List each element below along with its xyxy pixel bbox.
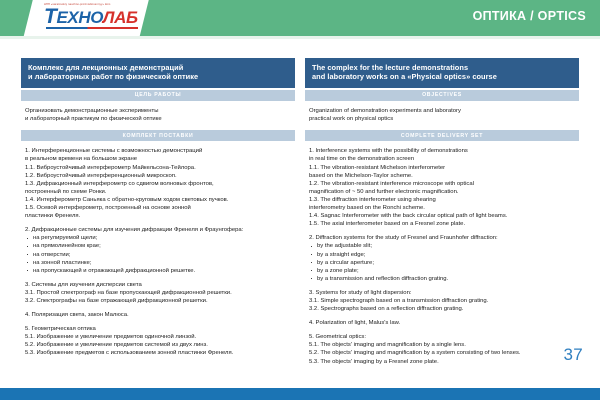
- list-item: 5.1. The objects' imaging and magnificat…: [309, 341, 575, 349]
- list-item: на прямолинейном крае;: [25, 242, 291, 250]
- list-item: 1.1. The vibration-resistant Michelson i…: [309, 164, 575, 172]
- left-objectives-line2: и лабораторный практикум по физической о…: [25, 115, 291, 123]
- list-item: interferometry based on the Ronchi schem…: [309, 204, 575, 212]
- list-item: 5. Геометрическая оптика: [25, 325, 291, 333]
- right-objectives-line1: Organization of demonstration experiment…: [309, 107, 575, 115]
- left-delivery-list: 1. Интерференционные системы с возможнос…: [21, 141, 295, 357]
- right-section-objectives-header: OBJECTIVES: [305, 90, 579, 101]
- list-item: 1. Interference systems with the possibi…: [309, 147, 575, 155]
- list-item: на отверстии;: [25, 251, 291, 259]
- left-objectives-line1: Организовать демонстрационные эксперимен…: [25, 107, 291, 115]
- logo-underline-rule: [46, 27, 138, 29]
- left-title-line2: и лабораторных работ по физической оптик…: [28, 72, 288, 81]
- list-item: 5.3. Изображение предметов с использован…: [25, 349, 291, 357]
- left-title-line1: Комплекс для лекционных демонстраций: [28, 63, 288, 72]
- page-title: ОПТИКА / OPTICS: [473, 9, 586, 23]
- list-item: 1.3. Дифракционный интерферометр со сдви…: [25, 180, 291, 188]
- list-item: 1.2. The vibration-resistant interferenc…: [309, 180, 575, 188]
- right-objectives-line2: practical work on physical optics: [309, 115, 575, 123]
- header-divider: [0, 36, 600, 39]
- list-item: 1.3. The diffraction interferometer usin…: [309, 196, 575, 204]
- list-item: 1.2. Виброустойчивый интерференционный м…: [25, 172, 291, 180]
- left-section-delivery-header: КОМПЛЕКТ ПОСТАВКИ: [21, 130, 295, 141]
- list-item: by a transmission and reflection diffrac…: [309, 275, 575, 283]
- logo-letter-t: Т: [44, 5, 56, 28]
- list-item: based on the Michelson-Taylor scheme.: [309, 172, 575, 180]
- list-item: 1.5. The axial interferometer based on a…: [309, 220, 575, 228]
- list-item: 4. Polarization of light, Malus's law.: [309, 319, 575, 327]
- list-item: 2. Diffraction systems for the study of …: [309, 234, 575, 242]
- list-item: 1.4. Интерферометр Саньяка с обратно-кру…: [25, 196, 291, 204]
- column-english: The complex for the lecture demonstratio…: [305, 58, 579, 366]
- list-item: 5. Geometrical optics:: [309, 333, 575, 341]
- list-item: 1.1. Виброустойчивый интерферометр Майке…: [25, 164, 291, 172]
- list-item: by the adjustable slit;: [309, 242, 575, 250]
- list-item: на регулируемой щели;: [25, 234, 291, 242]
- logo-wordmark: ТЕХНОЛАБ: [44, 7, 138, 28]
- right-section-delivery-header: COMPLETE DELIVERY SET: [305, 130, 579, 141]
- left-section-objectives-header: ЦЕЛЬ РАБОТЫ: [21, 90, 295, 101]
- list-item: в реальном времени на большом экране: [25, 155, 291, 163]
- list-item: 3.2. Спектрографы на базе отражающей диф…: [25, 297, 291, 305]
- list-item: 2. Дифракционные системы для изучения ди…: [25, 226, 291, 234]
- list-item: 3. Системы для изучения дисперсии света: [25, 281, 291, 289]
- right-title-line1: The complex for the lecture demonstratio…: [312, 63, 572, 72]
- column-russian: Комплекс для лекционных демонстраций и л…: [21, 58, 295, 366]
- list-item: 3.2. Spectrographs based on a reflection…: [309, 305, 575, 313]
- technolab-logo: НПП «saratovskiy nauchno-proizvodstvenny…: [44, 2, 140, 34]
- page-header: НПП «saratovskiy nauchno-proizvodstvenny…: [0, 0, 600, 36]
- list-item: 3.1. Simple spectrograph based on a tran…: [309, 297, 575, 305]
- content-columns: Комплекс для лекционных демонстраций и л…: [21, 58, 579, 366]
- list-item: 5.2. Изображение и увеличение предметов …: [25, 341, 291, 349]
- logo-text-lab: ЛАБ: [103, 8, 138, 27]
- list-item: на пропускающей и отражающей дифракционн…: [25, 267, 291, 275]
- list-item: in real time on the demonstration screen: [309, 155, 575, 163]
- list-item: 1.5. Осевой интерферометр, построенный н…: [25, 204, 291, 212]
- list-item: на зонной пластинке;: [25, 259, 291, 267]
- list-item: 5.3. The objects' imaging by a Fresnel z…: [309, 358, 575, 366]
- right-delivery-list: 1. Interference systems with the possibi…: [305, 141, 579, 365]
- right-objectives-body: Organization of demonstration experiment…: [305, 101, 579, 123]
- list-item: построенный по схеме Ронки.: [25, 188, 291, 196]
- logo-text-exno: ЕХНО: [56, 8, 102, 27]
- list-item: пластинки Френеля.: [25, 212, 291, 220]
- list-item: by a circular aperture;: [309, 259, 575, 267]
- list-item: 3.1. Простой спектрограф на базе пропуск…: [25, 289, 291, 297]
- list-item: 4. Поляризация света, закон Малюса.: [25, 311, 291, 319]
- list-item: by a straight edge;: [309, 251, 575, 259]
- right-title-line2: and laboratory works on a «Physical opti…: [312, 72, 572, 81]
- footer-bar: [0, 388, 600, 400]
- list-item: 1. Интерференционные системы с возможнос…: [25, 147, 291, 155]
- list-item: 5.1. Изображение и увеличение предметов …: [25, 333, 291, 341]
- list-item: 5.2. The objects' imaging and magnificat…: [309, 349, 575, 357]
- list-item: magnification of ~ 50 and further electr…: [309, 188, 575, 196]
- list-item: 3. Systems for study of light dispersion…: [309, 289, 575, 297]
- left-title-band: Комплекс для лекционных демонстраций и л…: [21, 58, 295, 88]
- page-number: 37: [563, 345, 583, 365]
- left-objectives-body: Организовать демонстрационные эксперимен…: [21, 101, 295, 123]
- list-item: by a zone plate;: [309, 267, 575, 275]
- right-title-band: The complex for the lecture demonstratio…: [305, 58, 579, 88]
- list-item: 1.4. Sagnac Interferometer with the back…: [309, 212, 575, 220]
